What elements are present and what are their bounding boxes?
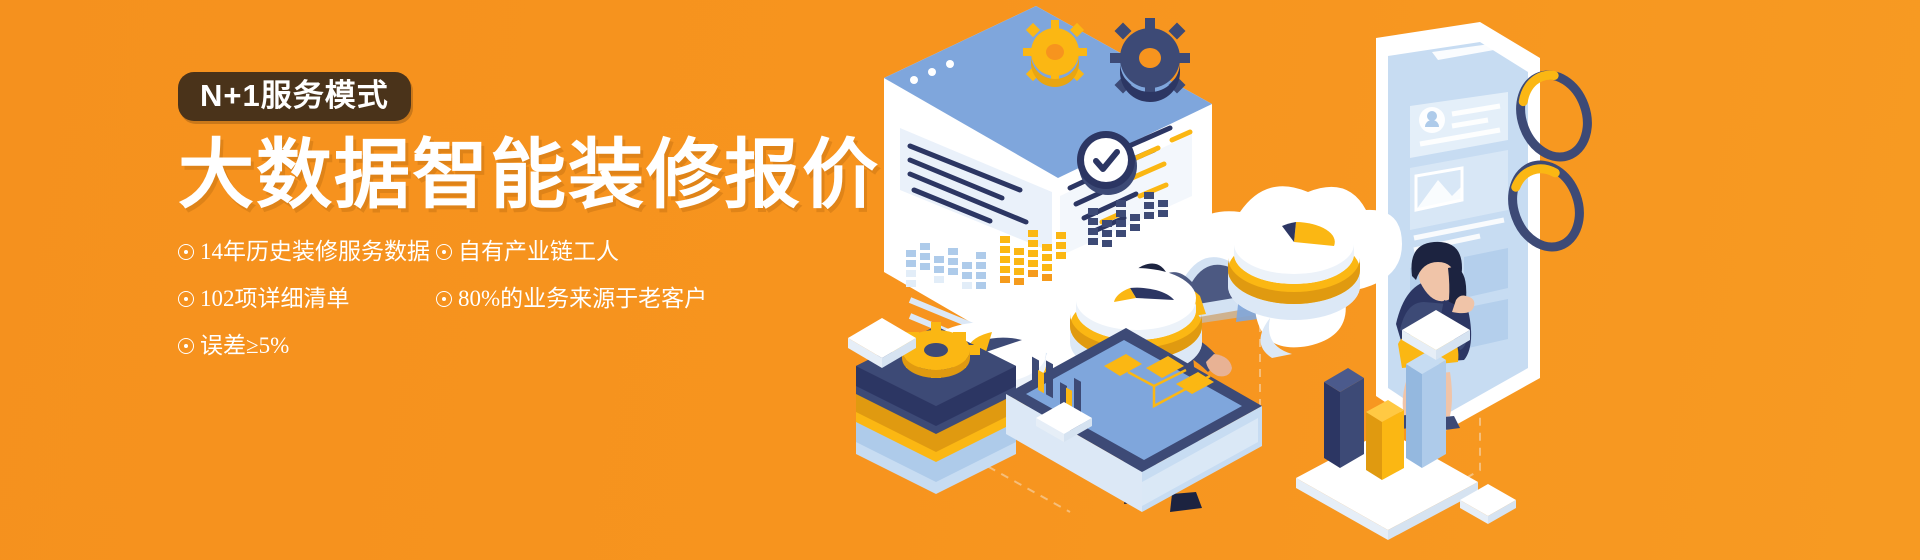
bar-navy <box>1324 368 1364 468</box>
gear-icon-amber <box>1023 20 1087 87</box>
list-item-label: 误差≥5% <box>200 334 289 357</box>
bullet-circle-dot-icon <box>436 291 452 307</box>
bullet-circle-dot-icon <box>178 338 194 354</box>
feature-bullet-list: 14年历史装修服务数据 自有产业链工人 102项详细清单 80%的业务来源于老客… <box>178 240 738 381</box>
bar-amber <box>1366 400 1404 480</box>
bullet-circle-dot-icon <box>178 244 194 260</box>
list-item: 误差≥5% <box>178 334 436 357</box>
service-mode-badge: N+1服务模式 <box>178 72 411 121</box>
bullet-circle-dot-icon <box>436 244 452 260</box>
list-item: 14年历史装修服务数据 <box>178 240 436 263</box>
list-item-label: 14年历史装修服务数据 <box>200 240 430 263</box>
isometric-big-data-illustration <box>840 0 1920 560</box>
bar-light-blue <box>1406 350 1446 468</box>
list-item-label: 自有产业链工人 <box>458 240 619 263</box>
list-item-label: 102项详细清单 <box>200 287 350 310</box>
pie-chart-cylinder-large <box>1228 212 1360 320</box>
list-item: 102项详细清单 <box>178 287 436 310</box>
smartphone-profile-card <box>1376 22 1540 436</box>
copy-block: N+1服务模式 大数据智能装修报价 14年历史装修服务数据 自有产业链工人 10… <box>178 72 938 381</box>
page-title: 大数据智能装修报价 <box>178 138 938 214</box>
list-item-label: 80%的业务来源于老客户 <box>458 287 707 310</box>
promo-banner: N+1服务模式 大数据智能装修报价 14年历史装修服务数据 自有产业链工人 10… <box>0 0 1920 560</box>
list-item: 自有产业链工人 <box>436 240 736 263</box>
gear-icon-navy <box>1110 18 1190 102</box>
list-item: 80%的业务来源于老客户 <box>436 287 736 310</box>
bullet-circle-dot-icon <box>178 291 194 307</box>
